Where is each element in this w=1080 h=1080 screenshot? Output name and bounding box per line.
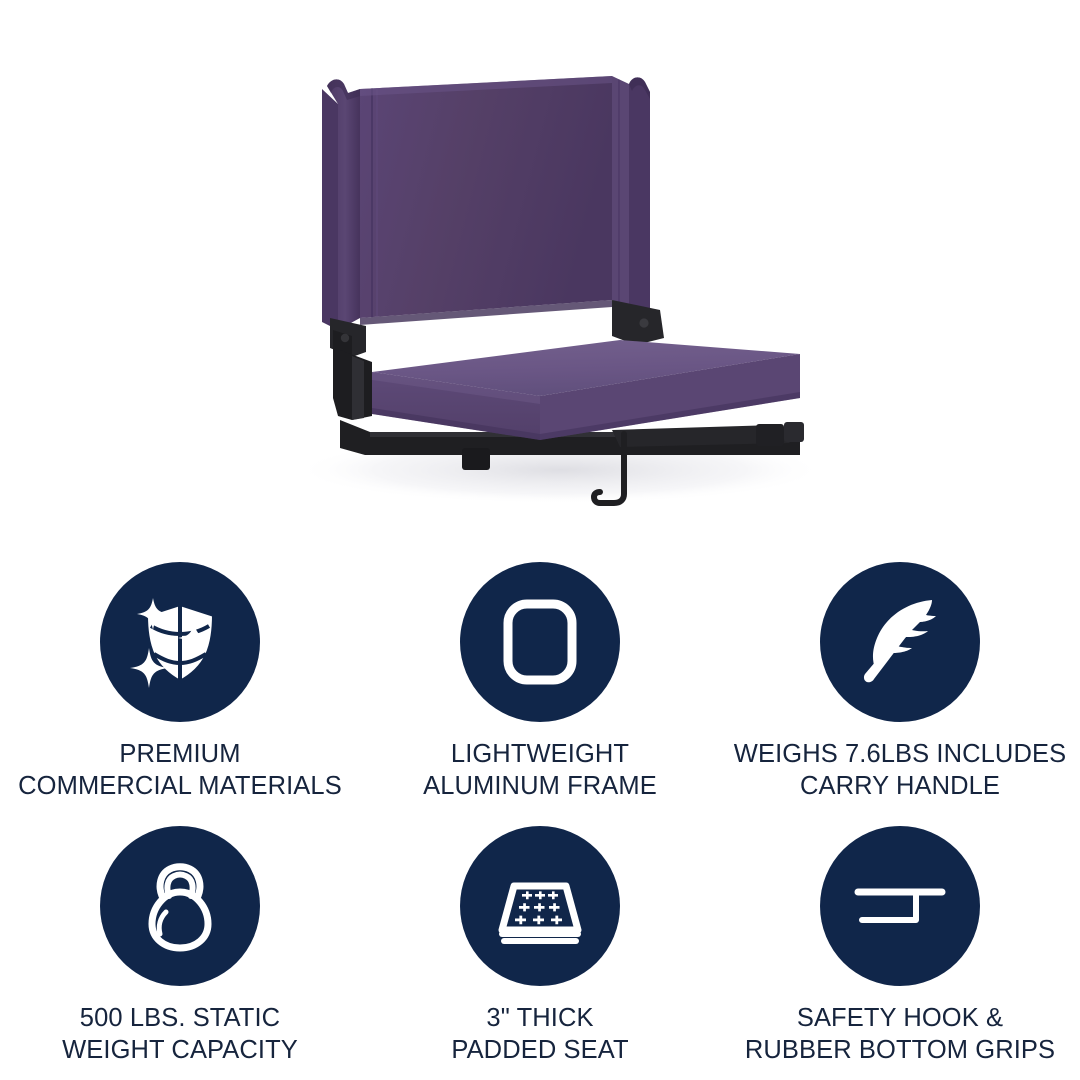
feature-safety-hook-grips: SAFETY HOOK & RUBBER BOTTOM GRIPS: [720, 814, 1080, 1080]
feature-weight-capacity: 500 LBS. STATIC WEIGHT CAPACITY: [0, 814, 360, 1080]
rubber-foot-rear: [784, 422, 804, 442]
infographic-page: PREMIUM COMMERCIAL MATERIALS LIGHTWEIGHT…: [0, 0, 1080, 1080]
chair-back-right-wing-outer: [629, 77, 650, 315]
feather-icon: [820, 562, 980, 722]
hinge-bolt-left: [341, 334, 349, 342]
stadium-chair-illustration: [0, 0, 1080, 540]
feature-label: LIGHTWEIGHT ALUMINUM FRAME: [423, 738, 657, 802]
shield-sparkle-icon: [100, 562, 260, 722]
feature-grid: PREMIUM COMMERCIAL MATERIALS LIGHTWEIGHT…: [0, 548, 1080, 1080]
feature-label: SAFETY HOOK & RUBBER BOTTOM GRIPS: [745, 1002, 1055, 1066]
feature-weighs-carry-handle: WEIGHS 7.6LBS INCLUDES CARRY HANDLE: [720, 548, 1080, 814]
feature-label: PREMIUM COMMERCIAL MATERIALS: [18, 738, 342, 802]
feature-padded-seat: 3" THICK PADDED SEAT: [360, 814, 720, 1080]
feature-lightweight-aluminum-frame: LIGHTWEIGHT ALUMINUM FRAME: [360, 548, 720, 814]
chair-back-left-wing: [322, 89, 338, 330]
chair-back-right-wing: [612, 76, 629, 307]
seat-support-left-edge: [352, 356, 364, 420]
product-hero-image: [0, 0, 1080, 540]
rubber-foot-right: [756, 424, 784, 446]
kettlebell-icon: [100, 826, 260, 986]
rubber-foot-left: [462, 448, 490, 470]
chair-back-panel: [360, 76, 612, 318]
feature-label: 500 LBS. STATIC WEIGHT CAPACITY: [62, 1002, 298, 1066]
hinge-bolt-right: [639, 318, 648, 327]
rounded-square-frame-icon: [460, 562, 620, 722]
feature-label: WEIGHS 7.6LBS INCLUDES CARRY HANDLE: [734, 738, 1066, 802]
feature-label: 3" THICK PADDED SEAT: [451, 1002, 628, 1066]
safety-hook-icon: [820, 826, 980, 986]
padded-cushion-icon: [460, 826, 620, 986]
feature-premium-commercial-materials: PREMIUM COMMERCIAL MATERIALS: [0, 548, 360, 814]
hinge-bracket-right: [612, 300, 664, 345]
